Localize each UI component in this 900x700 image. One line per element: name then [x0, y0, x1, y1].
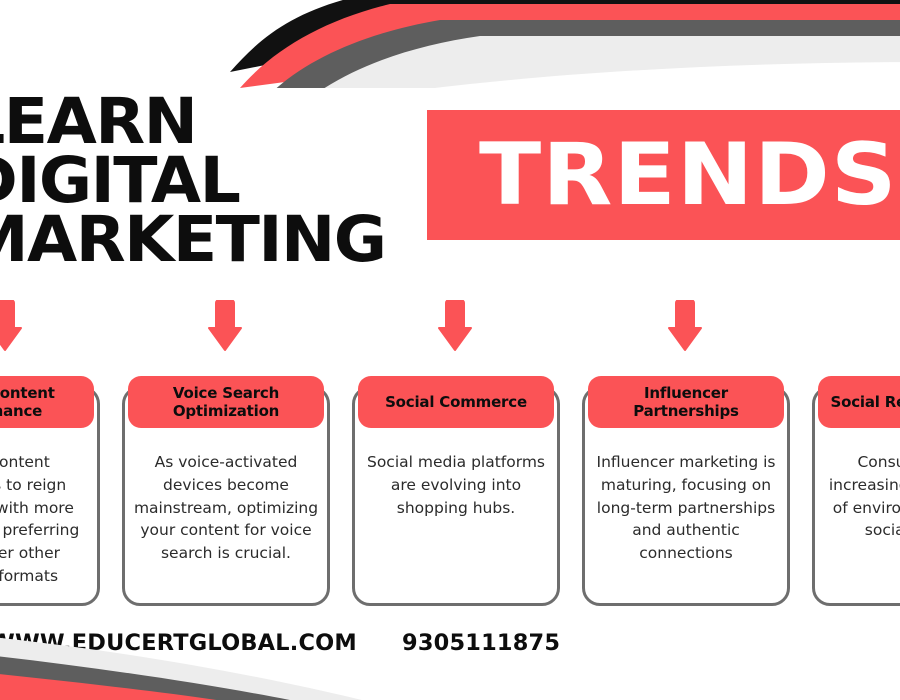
- card-header-video-content-dominance[interactable]: Video Content Dominance: [0, 376, 94, 428]
- page-title: LEARN DIGITAL MARKETING: [0, 92, 384, 270]
- infographic-canvas: LEARN DIGITAL MARKETING TRENDS Video con…: [0, 0, 900, 700]
- card-header-label: Video Content Dominance: [0, 384, 88, 420]
- card-header-influencer-partnerships[interactable]: Influencer Partnerships: [588, 376, 784, 428]
- arrow-down-icon-3: [438, 300, 472, 352]
- card-body-text: As voice-activated devices become mainst…: [125, 451, 327, 565]
- card-header-label: Influencer Partnerships: [594, 384, 778, 420]
- arrow-down-icon-1: [0, 300, 22, 352]
- headline-line-1: LEARN: [0, 92, 397, 151]
- footer-contact-bar: WWW.EDUCERTGLOBAL.COM 9305111875: [0, 626, 890, 660]
- swoosh-dark-gray-layer: [270, 20, 900, 88]
- card-header-voice-search-optimization[interactable]: Voice Search Optimization: [128, 376, 324, 428]
- trends-banner-label: TRENDS: [479, 132, 898, 218]
- headline-line-2: DIGITAL: [0, 151, 397, 210]
- swoosh-black-layer: [230, 0, 900, 72]
- footer-phone-label: 9305111875: [402, 631, 560, 656]
- trends-banner: TRENDS: [427, 110, 900, 240]
- footer-website-label: WWW.EDUCERTGLOBAL.COM: [0, 631, 357, 656]
- card-header-social-commerce[interactable]: Social Commerce: [358, 376, 554, 428]
- card-body-text: Social media platforms are evolving into…: [355, 451, 557, 519]
- arrow-down-icon-2: [208, 300, 242, 352]
- card-header-social-responsibility[interactable]: Social Responsibility: [818, 376, 900, 428]
- card-header-label: Social Commerce: [385, 393, 527, 411]
- swoosh-red-layer: [0, 668, 230, 700]
- arrow-down-icon-4: [668, 300, 702, 352]
- card-body-text: Influencer marketing is maturing, focusi…: [585, 451, 787, 565]
- top-decorative-swoosh: [230, 0, 900, 88]
- swoosh-red-layer: [240, 4, 900, 88]
- headline-line-3: MARKETING: [0, 210, 397, 269]
- card-header-label: Voice Search Optimization: [134, 384, 318, 420]
- swoosh-light-gray-layer: [300, 36, 900, 88]
- card-body-text: Consumers are increasingly conscious of …: [815, 451, 900, 542]
- card-body-text: Video content continues to reign supreme…: [0, 451, 97, 588]
- card-header-label: Social Responsibility: [831, 393, 900, 411]
